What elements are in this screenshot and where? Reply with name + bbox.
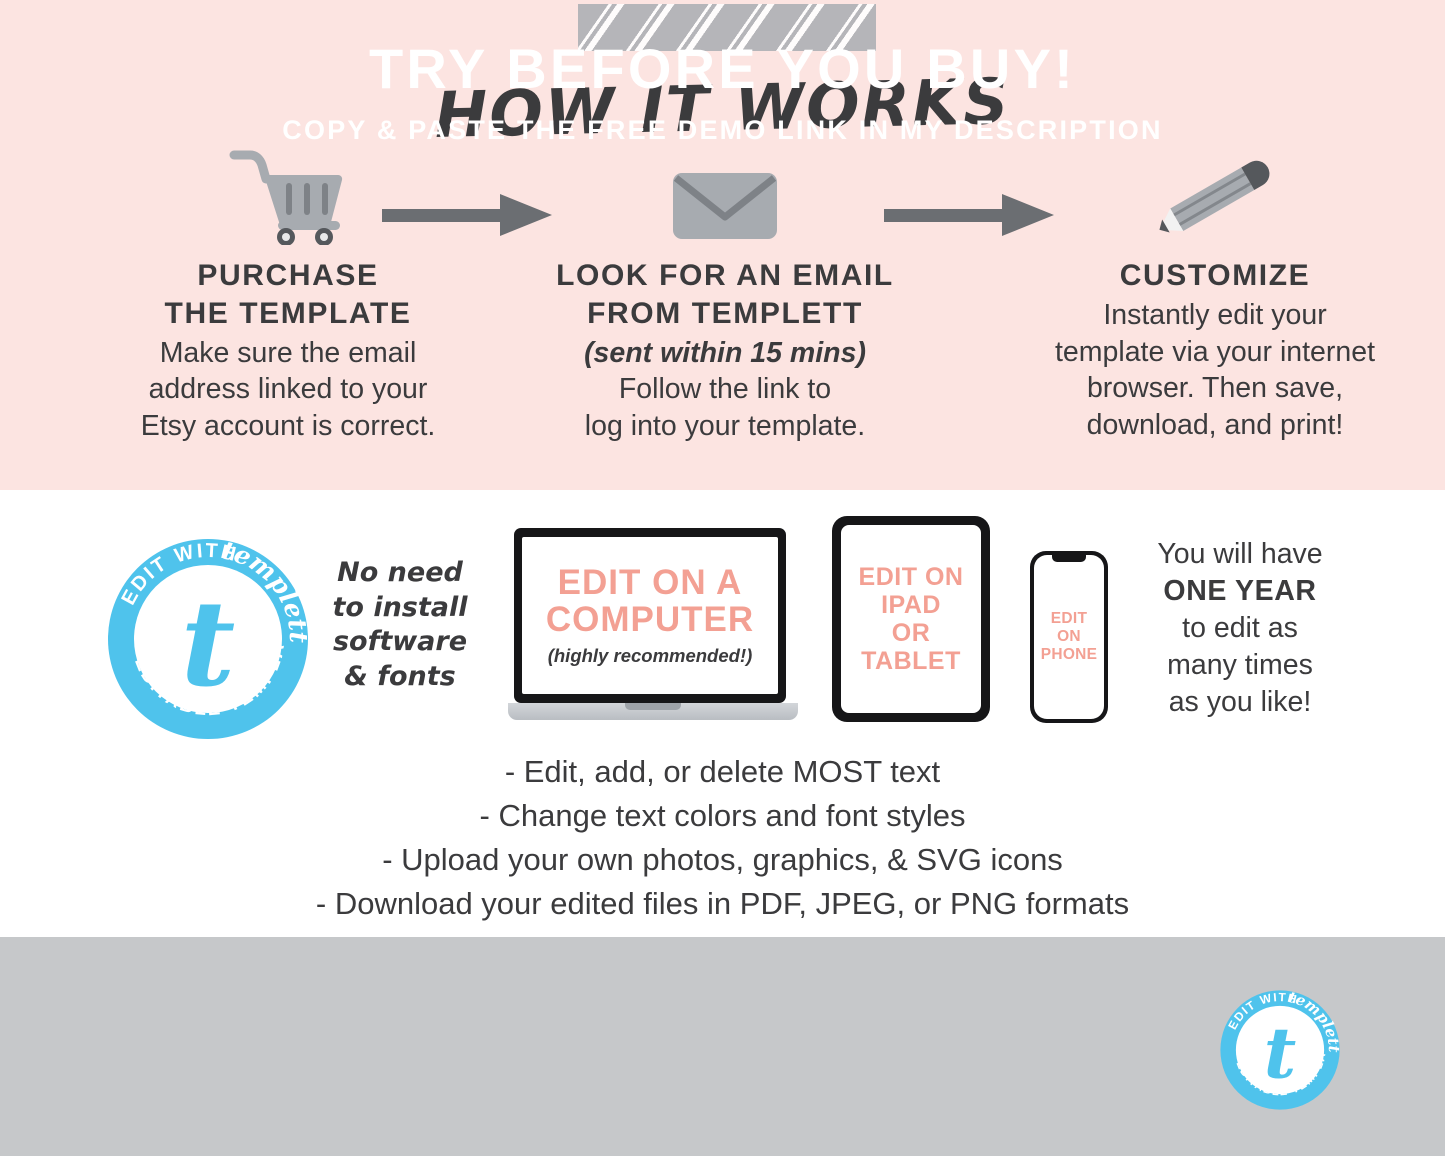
templett-badge-footer: EDIT WITH templett EDITABLE TEMPLATE t <box>1218 988 1342 1112</box>
phone-device: EDIT ON PHONE <box>1030 551 1108 723</box>
step-1-body: Make sure the email address linked to yo… <box>78 335 498 445</box>
step-2-body: (sent within 15 mins) Follow the link to… <box>500 335 950 445</box>
laptop-trackpad-notch <box>625 703 681 710</box>
step-email: LOOK FOR AN EMAIL FROM TEMPLETT (sent wi… <box>500 140 950 445</box>
envelope-icon <box>500 140 950 245</box>
feature-bullet-list: - Edit, add, or delete MOST text - Chang… <box>0 750 1445 926</box>
laptop-screen: EDIT ON A COMPUTER (highly recommended!) <box>522 537 778 694</box>
svg-text:t: t <box>181 574 236 713</box>
phone-screen-title: EDIT ON PHONE <box>1041 610 1098 665</box>
tablet-device: EDIT ON IPAD OR TABLET <box>832 516 990 722</box>
footer-subtitle: COPY & PASTE THE FREE DEMO LINK IN MY DE… <box>0 115 1445 146</box>
phone-screen: EDIT ON PHONE <box>1034 555 1104 719</box>
step-3-title: CUSTOMIZE <box>1000 257 1430 295</box>
step-purchase: PURCHASE THE TEMPLATE Make sure the emai… <box>78 140 498 445</box>
step-1-title: PURCHASE THE TEMPLATE <box>78 257 498 333</box>
phone-notch <box>1052 555 1086 562</box>
list-item: - Download your edited files in PDF, JPE… <box>0 882 1445 926</box>
list-item: - Change text colors and font styles <box>0 794 1445 838</box>
step-customize: CUSTOMIZE Instantly edit your template v… <box>1000 140 1430 444</box>
templett-badge-main: EDIT WITH templett EDITABLE TEMPLATE t <box>104 535 312 743</box>
laptop-bezel: EDIT ON A COMPUTER (highly recommended!) <box>514 528 786 703</box>
svg-text:t: t <box>1264 1011 1297 1094</box>
footer-title: TRY BEFORE YOU BUY! <box>0 36 1445 101</box>
list-item: - Upload your own photos, graphics, & SV… <box>0 838 1445 882</box>
no-need-to-install-text: No need to install software & fonts <box>330 556 470 694</box>
step-2-title: LOOK FOR AN EMAIL FROM TEMPLETT <box>500 257 950 333</box>
one-year-text: You will have ONE YEAR to edit as many t… <box>1124 536 1356 721</box>
tablet-screen-title: EDIT ON IPAD OR TABLET <box>859 563 964 675</box>
list-item: - Edit, add, or delete MOST text <box>0 750 1445 794</box>
laptop-screen-subtitle: (highly recommended!) <box>548 645 753 667</box>
step-3-body: Instantly edit your template via your in… <box>1000 297 1430 444</box>
pencil-icon <box>1000 140 1430 245</box>
laptop-screen-title: EDIT ON A COMPUTER <box>546 564 754 639</box>
laptop-device: EDIT ON A COMPUTER (highly recommended!) <box>508 528 798 732</box>
tablet-screen: EDIT ON IPAD OR TABLET <box>841 525 981 713</box>
